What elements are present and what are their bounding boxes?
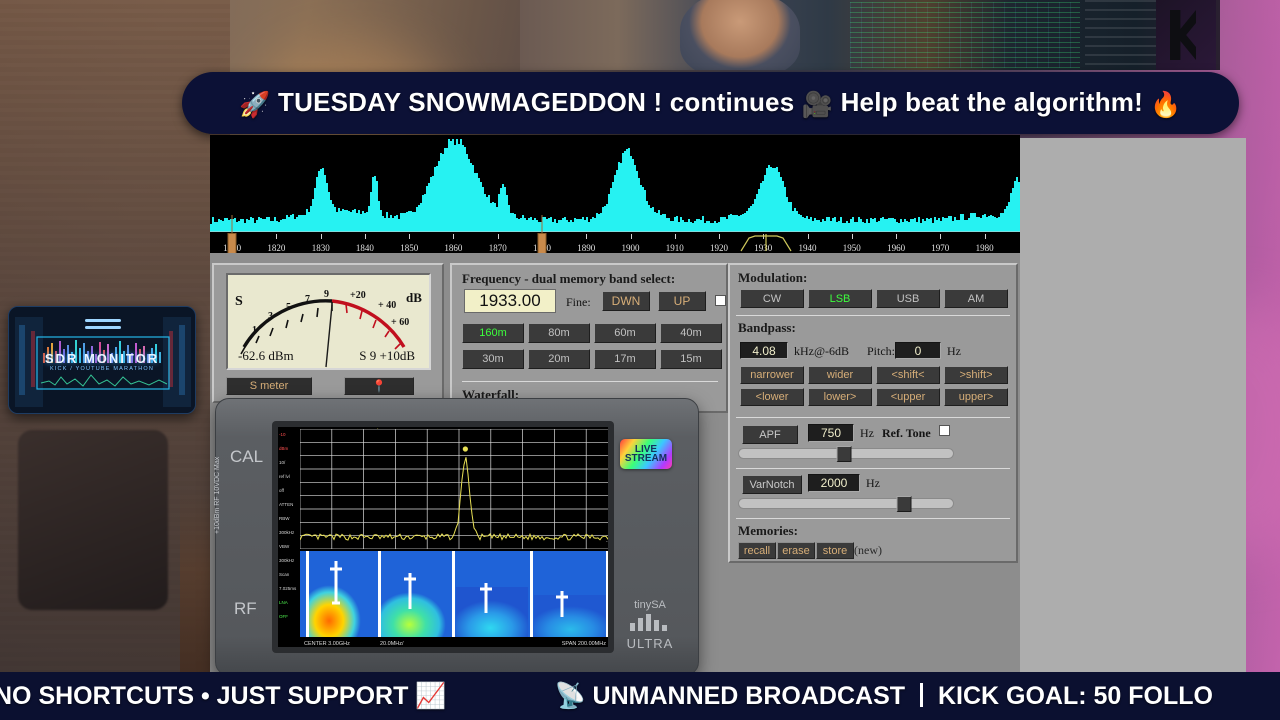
varnotch-slider-thumb[interactable] xyxy=(896,496,911,512)
varnotch-value-field[interactable]: 2000 xyxy=(808,474,860,492)
fine-up-button[interactable]: UP xyxy=(658,291,706,311)
fine-down-button[interactable]: DWN xyxy=(602,291,650,311)
stream-screenshot: 🚀 TUESDAY SNOWMAGEDDON ! continues 🎥 Hel… xyxy=(0,0,1280,720)
fire-icon: 🔥 xyxy=(1150,91,1181,119)
bandpass-button-lower-right[interactable]: lower> xyxy=(808,388,872,406)
frequency-divider xyxy=(462,381,718,382)
tinysa-bezel: -10dBm10/ref lvloffATTENRBW300kHzVBW300k… xyxy=(272,421,614,653)
webcam-streamer xyxy=(680,0,800,70)
bandpass-button-upper-right[interactable]: upper> xyxy=(944,388,1008,406)
webcam-monitor xyxy=(850,2,1080,68)
apf-slider[interactable] xyxy=(738,448,954,459)
memory-button-store[interactable]: store xyxy=(816,542,854,559)
rocket-icon: 🚀 xyxy=(239,91,270,119)
webcam-feed xyxy=(520,0,1220,70)
apf-unit: Hz xyxy=(860,426,874,441)
s-meter-dbm-reading: -62.6 dBm xyxy=(238,348,294,364)
cal-port-label: CAL xyxy=(230,447,263,467)
satellite-antenna-icon: 📡 xyxy=(554,682,585,710)
live-stream-badge: LIVESTREAM xyxy=(620,439,672,469)
ticker-right: 📡 UNMANNED BROADCAST KICK GOAL: 50 FOLLO xyxy=(554,682,1213,711)
rf-port-label: RF xyxy=(234,599,257,619)
memories-divider xyxy=(736,518,1010,519)
tinysa-center-freq: CENTER 3.00GHz xyxy=(304,641,350,647)
band-button-15m[interactable]: 15m xyxy=(660,349,722,369)
tinysa-left-readouts: -10dBm10/ref lvloffATTENRBW300kHzVBW300k… xyxy=(278,427,300,647)
svg-text:dB: dB xyxy=(406,290,422,305)
varnotch-button[interactable]: VarNotch xyxy=(742,475,802,494)
ticker-separator xyxy=(920,683,923,707)
bottom-ticker: NO SHORTCUTS • JUST SUPPORT 📈 📡 UNMANNED… xyxy=(0,672,1280,720)
memory-button-recall[interactable]: recall xyxy=(738,542,776,559)
fine-label: Fine: xyxy=(566,295,591,310)
tinysa-trace-grid: -10-20-30-40-50-60-70-80-100 xyxy=(300,429,606,549)
tinysa-span-per-div: 20.0MHz/ xyxy=(380,641,404,647)
frequency-value-field[interactable]: 1933.00 xyxy=(464,289,556,313)
bandpass-button-upper-left[interactable]: <upper xyxy=(876,388,940,406)
chart-increasing-icon: 📈 xyxy=(415,682,446,710)
s-meter-s-reading: S 9 +10dB xyxy=(359,348,415,364)
tinysa-ultra-device: CAL RF +10dBm RF 10VDC Max -10dBm10/ref … xyxy=(215,398,699,676)
s-meter-button-row: S meter 📍 xyxy=(226,377,436,397)
sdr-card-subtitle: KICK / YOUTUBE MARATHON xyxy=(9,366,195,372)
live-stream-badge-text: LIVESTREAM xyxy=(625,445,667,463)
tinysa-span: SPAN 200.00MHz xyxy=(562,641,606,647)
memory-button-erase[interactable]: erase xyxy=(777,542,815,559)
memories-header: Memories: xyxy=(738,523,798,539)
modulation-button-lsb[interactable]: LSB xyxy=(808,289,872,308)
tinysa-brand-name: tinySA xyxy=(624,599,676,611)
sdr-monitor-overlay-card: SDR MONITOR KICK / YOUTUBE MARATHON xyxy=(8,306,196,414)
bandpass-width-field[interactable]: 4.08 xyxy=(740,342,788,359)
varnotch-divider xyxy=(736,468,1010,469)
apf-divider xyxy=(736,417,1010,418)
s-meter-face: S 1 3 5 7 9 +20 + 40 + 60 dB xyxy=(226,273,431,370)
band-button-40m[interactable]: 40m xyxy=(660,323,722,343)
svg-text:3: 3 xyxy=(268,311,273,322)
s-meter-pane: S 1 3 5 7 9 +20 + 40 + 60 dB xyxy=(212,263,444,403)
ticker-right-text-1: UNMANNED BROADCAST xyxy=(593,682,906,710)
apf-value-field[interactable]: 750 xyxy=(808,424,854,442)
svg-text:9: 9 xyxy=(324,289,329,300)
pitch-label: Pitch: xyxy=(867,344,895,359)
modulation-header: Modulation: xyxy=(738,270,807,286)
pin-icon: 📍 xyxy=(372,379,387,393)
band-button-80m[interactable]: 80m xyxy=(528,323,590,343)
svg-text:7: 7 xyxy=(305,294,310,305)
bandpass-button-shift-right[interactable]: >shift> xyxy=(944,366,1008,384)
bandpass-button-lower-left[interactable]: <lower xyxy=(740,388,804,406)
rf-warning-label: +10dBm RF 10VDC Max xyxy=(214,457,221,534)
right-blank-panel xyxy=(1020,138,1246,686)
ref-tone-checkbox[interactable] xyxy=(939,425,950,436)
spectrum-display[interactable]: 1810182018301840185018601870188018901900… xyxy=(210,135,1020,253)
banner-main-text: TUESDAY SNOWMAGEDDON ! continues xyxy=(278,87,794,117)
varnotch-unit: Hz xyxy=(866,476,880,491)
band-button-20m[interactable]: 20m xyxy=(528,349,590,369)
sdr-card-title: SDR MONITOR xyxy=(9,351,195,366)
kick-logo xyxy=(1156,0,1216,70)
modulation-button-am[interactable]: AM xyxy=(944,289,1008,308)
bandpass-button-wider[interactable]: wider xyxy=(808,366,872,384)
memories-status: (new) xyxy=(854,543,882,558)
svg-text:S: S xyxy=(235,294,243,309)
top-banner-text: 🚀 TUESDAY SNOWMAGEDDON ! continues 🎥 Hel… xyxy=(239,87,1181,120)
band-button-17m[interactable]: 17m xyxy=(594,349,656,369)
apf-slider-thumb[interactable] xyxy=(836,446,851,462)
svg-text:+ 40: + 40 xyxy=(378,300,396,311)
ref-tone-label: Ref. Tone xyxy=(882,426,931,441)
tinysa-model: ULTRA xyxy=(624,636,676,651)
svg-text:+ 60: + 60 xyxy=(391,317,409,328)
frequency-header: Frequency - dual memory band select: xyxy=(462,271,675,287)
s-meter-button[interactable]: S meter xyxy=(226,377,312,395)
movie-camera-icon: 🎥 xyxy=(802,91,833,119)
svg-text:1: 1 xyxy=(252,325,257,336)
spectrum-axis xyxy=(210,231,1020,235)
tinysa-logo-icon xyxy=(628,612,672,632)
frequency-pane: Frequency - dual memory band select: 193… xyxy=(450,263,728,413)
bandpass-shape-icon xyxy=(739,232,795,252)
fine-checkbox[interactable] xyxy=(715,295,726,306)
band-button-60m[interactable]: 60m xyxy=(594,323,656,343)
bandpass-button-shift-left[interactable]: <shift< xyxy=(876,366,940,384)
pitch-field[interactable]: 0 xyxy=(895,342,941,359)
svg-text:-100: -100 xyxy=(606,539,608,545)
pin-marker-button[interactable]: 📍 xyxy=(344,377,414,395)
svg-text:+20: +20 xyxy=(350,290,366,301)
bandpass-button-narrower[interactable]: narrower xyxy=(740,366,804,384)
apf-button[interactable]: APF xyxy=(742,425,798,444)
tinysa-brand: tinySA ULTRA xyxy=(624,599,676,651)
bandpass-width-unit: kHz@-6dB xyxy=(794,344,849,359)
pitch-unit: Hz xyxy=(947,344,961,359)
modulation-pane: Modulation: CWLSBUSBAM Bandpass: 4.08 kH… xyxy=(728,263,1018,563)
band-button-30m[interactable]: 30m xyxy=(462,349,524,369)
ticker-right-text-2: KICK GOAL: 50 FOLLO xyxy=(938,682,1213,710)
top-banner: 🚀 TUESDAY SNOWMAGEDDON ! continues 🎥 Hel… xyxy=(182,72,1239,134)
varnotch-slider[interactable] xyxy=(738,498,954,509)
tinysa-waterfall xyxy=(300,551,606,637)
band-button-160m[interactable]: 160m xyxy=(462,323,524,343)
modulation-button-usb[interactable]: USB xyxy=(876,289,940,308)
svg-text:5: 5 xyxy=(286,302,291,313)
ticker-left: NO SHORTCUTS • JUST SUPPORT 📈 xyxy=(0,682,446,711)
banner-tail-text: Help beat the algorithm! xyxy=(841,87,1143,117)
tinysa-screen[interactable]: -10dBm10/ref lvloffATTENRBW300kHzVBW300k… xyxy=(278,427,608,647)
bandpass-header: Bandpass: xyxy=(738,320,796,336)
ticker-left-text: NO SHORTCUTS • JUST SUPPORT xyxy=(0,682,408,710)
modulation-divider xyxy=(736,315,1010,316)
spectrum-trace xyxy=(210,135,1020,253)
modulation-button-cw[interactable]: CW xyxy=(740,289,804,308)
